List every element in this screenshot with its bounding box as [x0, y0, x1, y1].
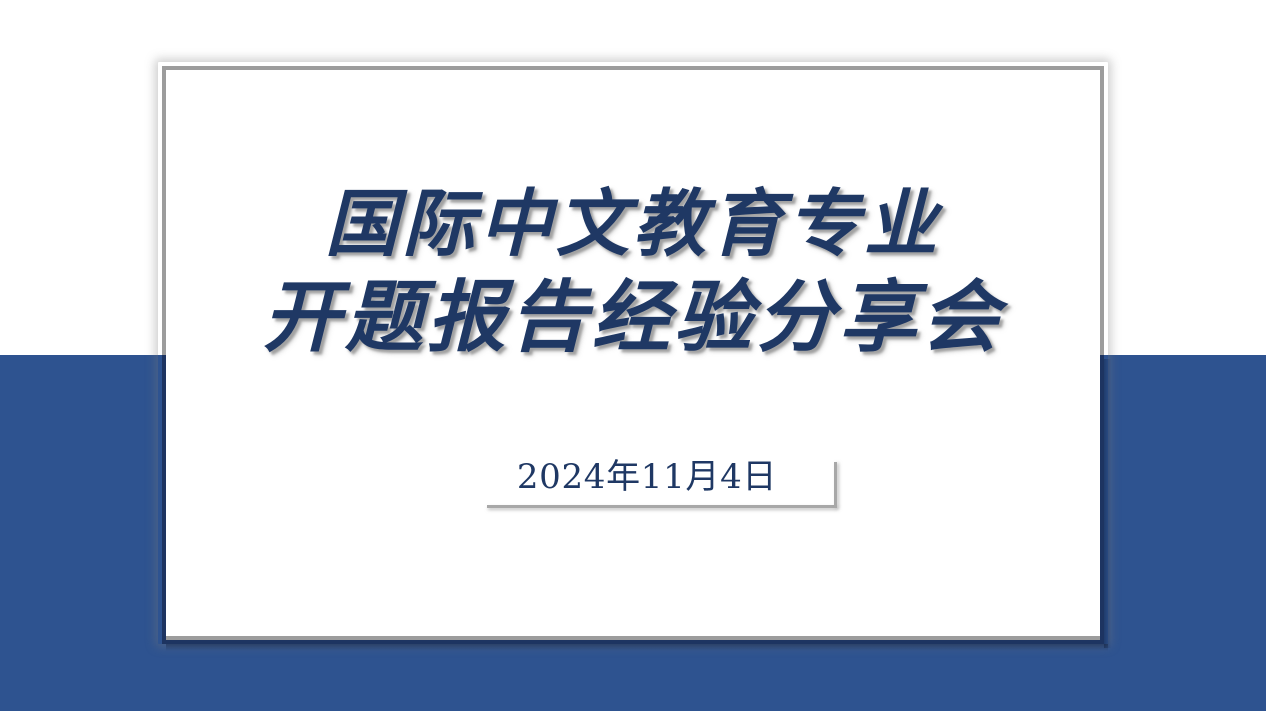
title-line-2: 开题报告经验分享会 — [162, 270, 1104, 366]
title-line-1: 国际中文教育专业 — [162, 178, 1104, 270]
date-frame-right-rule — [834, 462, 837, 508]
card-border-right-over-band — [1100, 355, 1104, 644]
page-title: 国际中文教育专业 开题报告经验分享会 — [162, 178, 1104, 366]
card-border-bottom-over-band — [162, 640, 1104, 644]
date-text: 2024年11月4日 — [487, 455, 807, 499]
card-border-left-over-band — [162, 355, 166, 644]
date-block: 2024年11月4日 — [487, 455, 837, 508]
date-frame-bottom-rule — [487, 505, 837, 508]
presentation-slide: 国际中文教育专业 开题报告经验分享会 2024年11月4日 — [0, 0, 1266, 711]
